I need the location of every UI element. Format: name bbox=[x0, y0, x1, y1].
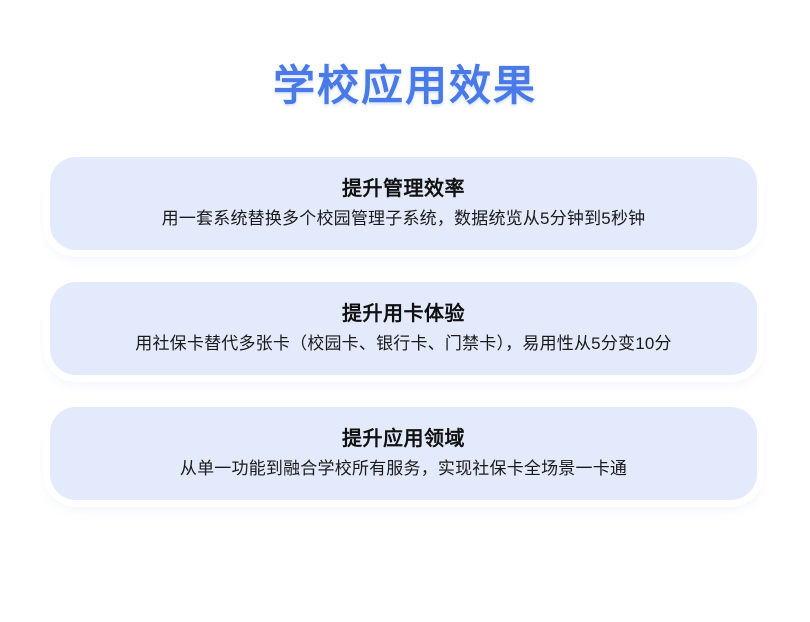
benefit-card-body: 用一套系统替换多个校园管理子系统，数据统览从5分钟到5秒钟 bbox=[162, 206, 646, 232]
benefit-card-heading: 提升应用领域 bbox=[342, 425, 465, 453]
benefit-card-heading: 提升管理效率 bbox=[342, 175, 465, 203]
infographic-page: 学校应用效果 提升管理效率 用一套系统替换多个校园管理子系统，数据统览从5分钟到… bbox=[0, 0, 810, 622]
benefit-card-body: 用社保卡替代多张卡（校园卡、银行卡、门禁卡），易用性从5分变10分 bbox=[135, 331, 671, 357]
benefit-card: 提升管理效率 用一套系统替换多个校园管理子系统，数据统览从5分钟到5秒钟 bbox=[50, 157, 757, 250]
benefit-card: 提升应用领域 从单一功能到融合学校所有服务，实现社保卡全场景一卡通 bbox=[50, 407, 757, 500]
page-title: 学校应用效果 bbox=[273, 58, 537, 114]
benefit-card-heading: 提升用卡体验 bbox=[342, 300, 465, 328]
benefit-card-list: 提升管理效率 用一套系统替换多个校园管理子系统，数据统览从5分钟到5秒钟 提升用… bbox=[50, 157, 757, 500]
benefit-card-body: 从单一功能到融合学校所有服务，实现社保卡全场景一卡通 bbox=[180, 456, 627, 482]
page-title-container: 学校应用效果 bbox=[0, 58, 810, 114]
benefit-card: 提升用卡体验 用社保卡替代多张卡（校园卡、银行卡、门禁卡），易用性从5分变10分 bbox=[50, 282, 757, 375]
